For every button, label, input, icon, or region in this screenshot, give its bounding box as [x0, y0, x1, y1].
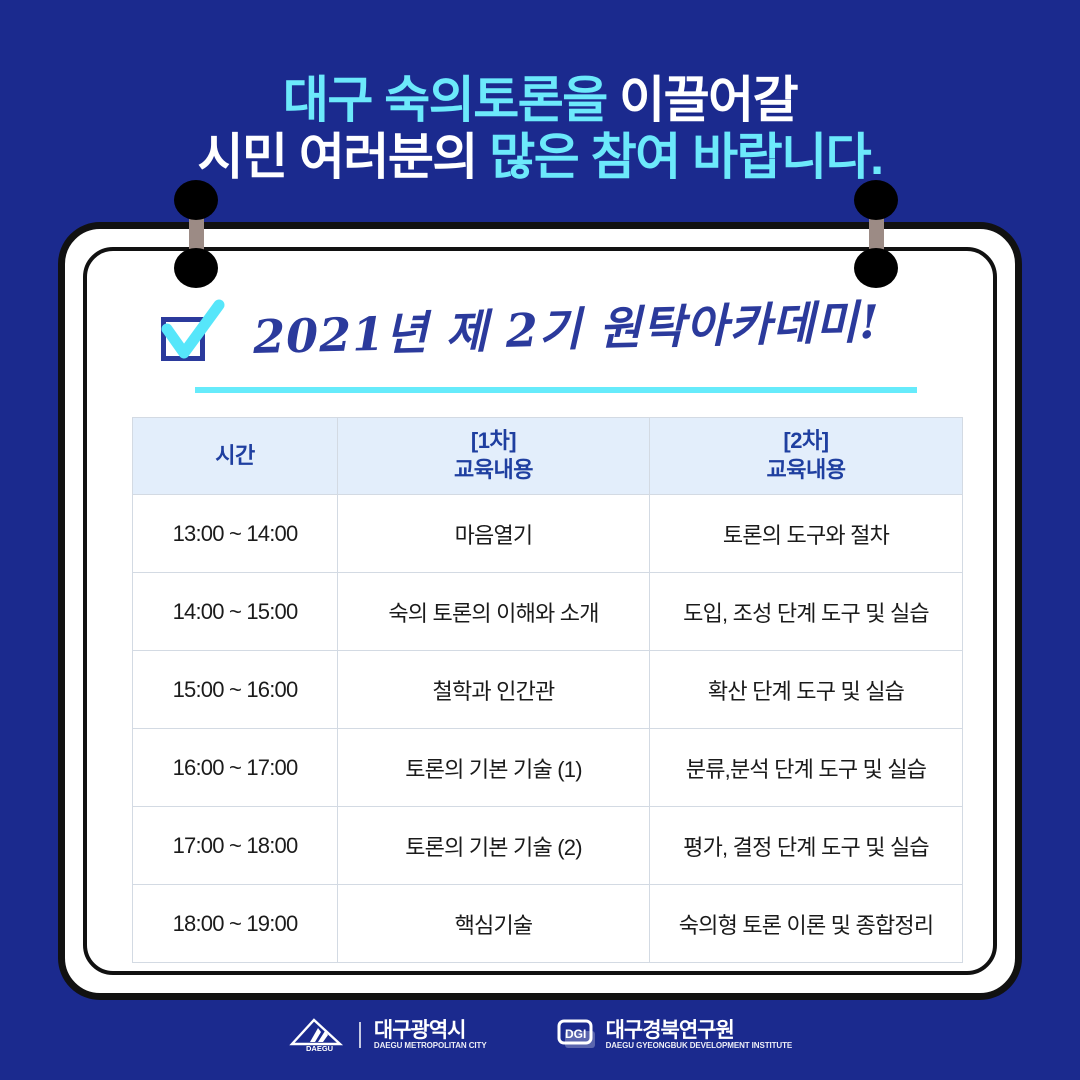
table-row: 16:00 ~ 17:00 토론의 기본 기술 (1) 분류,분석 단계 도구 …: [133, 729, 963, 807]
logo-daegu-text: 대구광역시 DAEGU METROPOLITAN CITY: [374, 1020, 487, 1050]
daegu-triangle-icon: DAEGU: [288, 1018, 346, 1052]
footer-logos: DAEGU 대구광역시 DAEGU METROPOLITAN CITY DGI …: [0, 1018, 1080, 1052]
column-header-first-line1: [1차]: [471, 428, 516, 453]
logo-dgi-korean: 대구경북연구원: [606, 1020, 793, 1042]
table-row: 18:00 ~ 19:00 핵심기술 숙의형 토론 이론 및 종합정리: [133, 885, 963, 963]
cell-first: 토론의 기본 기술 (2): [338, 807, 650, 885]
column-header-time: 시간: [133, 418, 338, 495]
column-header-time-line1: 시간: [215, 443, 254, 468]
clip-dot-bottom: [854, 248, 898, 288]
table-row: 17:00 ~ 18:00 토론의 기본 기술 (2) 평가, 결정 단계 도구…: [133, 807, 963, 885]
cell-first: 마음열기: [338, 495, 650, 573]
cell-time: 16:00 ~ 17:00: [133, 729, 338, 807]
section-title-underline: [195, 387, 917, 393]
cell-second: 도입, 조성 단계 도구 및 실습: [650, 573, 963, 651]
cell-time: 17:00 ~ 18:00: [133, 807, 338, 885]
headline-line-1-white: 이끌어갈: [607, 72, 797, 128]
cell-time: 14:00 ~ 15:00: [133, 573, 338, 651]
binder-clip-right: [854, 180, 898, 288]
cell-first: 핵심기술: [338, 885, 650, 963]
headline-line-2-white: 시민 여러분의: [198, 129, 490, 185]
cell-first: 숙의 토론의 이해와 소개: [338, 573, 650, 651]
headline-line-1-cyan: 대구 숙의토론을: [283, 72, 607, 128]
clip-dot-top: [854, 180, 898, 220]
table-header-row: 시간 [1차] 교육내용 [2차] 교육내용: [133, 418, 963, 495]
cell-first: 토론의 기본 기술 (1): [338, 729, 650, 807]
cell-second: 토론의 도구와 절차: [650, 495, 963, 573]
table-row: 13:00 ~ 14:00 마음열기 토론의 도구와 절차: [133, 495, 963, 573]
logo-dgi-text: 대구경북연구원 DAEGU GYEONGBUK DEVELOPMENT INST…: [606, 1020, 793, 1050]
column-header-first-session: [1차] 교육내용: [338, 418, 650, 495]
schedule-table: 시간 [1차] 교육내용 [2차] 교육내용 13:00 ~ 14:00 마음열…: [132, 417, 963, 963]
daegu-mark-label: DAEGU: [306, 1044, 333, 1052]
headline-line-1: 대구 숙의토론을 이끌어갈: [0, 72, 1080, 129]
schedule-card: 2021년 제 2기 원탁아카데미! 시간 [1차] 교육내용 [2차] 교육내…: [58, 222, 1022, 1000]
cell-second: 숙의형 토론 이론 및 종합정리: [650, 885, 963, 963]
table-row: 14:00 ~ 15:00 숙의 토론의 이해와 소개 도입, 조성 단계 도구…: [133, 573, 963, 651]
table-row: 15:00 ~ 16:00 철학과 인간관 확산 단계 도구 및 실습: [133, 651, 963, 729]
cell-second: 분류,분석 단계 도구 및 실습: [650, 729, 963, 807]
cell-time: 18:00 ~ 19:00: [133, 885, 338, 963]
column-header-first-line2: 교육내용: [454, 457, 533, 482]
headline-line-2: 시민 여러분의 많은 참여 바랍니다.: [0, 129, 1080, 186]
clip-dot-bottom: [174, 248, 218, 288]
cell-time: 13:00 ~ 14:00: [133, 495, 338, 573]
logo-daegu-metropolitan-city: DAEGU 대구광역시 DAEGU METROPOLITAN CITY: [288, 1018, 487, 1052]
dgi-box-icon: DGI: [557, 1019, 597, 1051]
clip-dot-top: [174, 180, 218, 220]
section-title-row: 2021년 제 2기 원탁아카데미!: [65, 297, 1015, 389]
cell-second: 확산 단계 도구 및 실습: [650, 651, 963, 729]
column-header-second-line2: 교육내용: [767, 457, 846, 482]
logo-daegu-english: DAEGU METROPOLITAN CITY: [374, 1042, 487, 1050]
cell-time: 15:00 ~ 16:00: [133, 651, 338, 729]
logo-dgi-english: DAEGU GYEONGBUK DEVELOPMENT INSTITUTE: [606, 1042, 793, 1050]
headline-line-2-cyan: 많은 참여 바랍니다.: [489, 129, 882, 185]
headline: 대구 숙의토론을 이끌어갈 시민 여러분의 많은 참여 바랍니다.: [0, 72, 1080, 186]
column-header-second-line1: [2차]: [783, 428, 828, 453]
logo-daegu-korean: 대구광역시: [374, 1020, 487, 1042]
dgi-mark-label: DGI: [565, 1027, 586, 1041]
section-title: 2021년 제 2기 원탁아카데미!: [252, 286, 881, 367]
cell-first: 철학과 인간관: [338, 651, 650, 729]
logo-dgi: DGI 대구경북연구원 DAEGU GYEONGBUK DEVELOPMENT …: [557, 1019, 793, 1051]
logo-divider: [359, 1022, 361, 1048]
check-icon: [157, 301, 223, 365]
cell-second: 평가, 결정 단계 도구 및 실습: [650, 807, 963, 885]
column-header-second-session: [2차] 교육내용: [650, 418, 963, 495]
binder-clip-left: [174, 180, 218, 288]
